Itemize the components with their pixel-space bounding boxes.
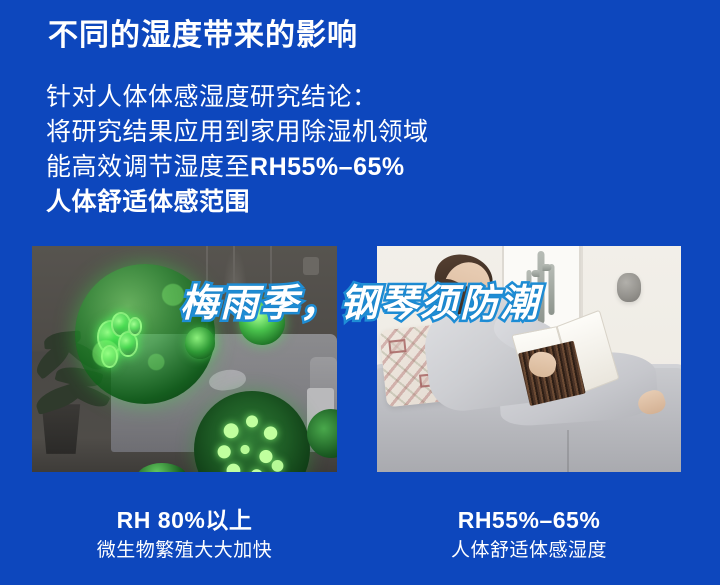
intro-paragraph: 针对人体体感湿度研究结论： 将研究结果应用到家用除湿机领域 能高效调节湿度至RH… bbox=[46, 80, 506, 220]
intro-line-4: 人体舒适体感范围 bbox=[46, 185, 506, 220]
microbe-cell-icon bbox=[185, 327, 216, 359]
photo-right-comfort bbox=[377, 246, 681, 472]
microbe-cell-icon bbox=[128, 317, 142, 335]
wall-speaker-icon bbox=[617, 273, 641, 302]
intro-line-3: 能高效调节湿度至RH55%–65% bbox=[46, 150, 506, 185]
microbe-sphere-large bbox=[194, 391, 310, 472]
bright-room-scene bbox=[377, 246, 681, 472]
microbe-cell-icon bbox=[97, 320, 124, 354]
pillow-motif-icon bbox=[388, 339, 407, 354]
hanging-plant-icon bbox=[221, 246, 248, 309]
caption-left: RH 80%以上 微生物繁殖大大加快 bbox=[32, 505, 337, 565]
caption-right: RH55%–65% 人体舒适体感湿度 bbox=[377, 505, 681, 565]
humidity-range-highlight: RH55%–65% bbox=[250, 153, 405, 181]
microbe-cell-icon bbox=[101, 345, 118, 367]
caption-right-title: RH55%–65% bbox=[377, 505, 681, 535]
microbe-cell-icon bbox=[111, 312, 131, 337]
intro-line-2: 将研究结果应用到家用除湿机领域 bbox=[46, 115, 506, 150]
page-title: 不同的湿度带来的影响 bbox=[48, 16, 358, 56]
humidity-infographic-poster: 不同的湿度带来的影响 针对人体体感湿度研究结论： 将研究结果应用到家用除湿机领域… bbox=[0, 0, 720, 585]
sofa-seam bbox=[567, 430, 569, 472]
caption-left-subtitle: 微生物繁殖大大加快 bbox=[32, 537, 337, 565]
intro-line-1: 针对人体体感湿度研究结论： bbox=[46, 80, 506, 115]
wall-switch-icon bbox=[303, 257, 319, 275]
caption-left-title: RH 80%以上 bbox=[32, 505, 337, 535]
dark-room-scene bbox=[32, 246, 337, 472]
intro-line-3-text: 能高效调节湿度至 bbox=[46, 153, 250, 181]
microbe-cell-icon bbox=[118, 331, 138, 356]
photo-left-microbes bbox=[32, 246, 337, 472]
caption-right-subtitle: 人体舒适体感湿度 bbox=[377, 537, 681, 565]
